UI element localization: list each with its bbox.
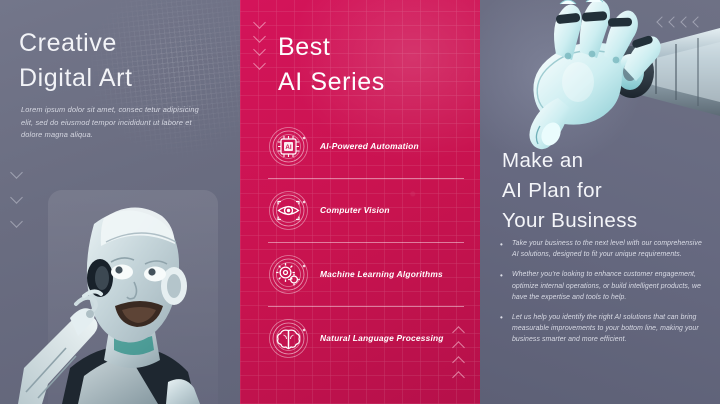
right-title-line-3: Your Business: [502, 206, 712, 236]
left-panel-title: Creative Digital Art: [19, 26, 234, 95]
robot-figure-thinking: [18, 196, 233, 404]
feature-item-natural-language-processing[interactable]: Natural Language Processing: [268, 306, 464, 370]
left-panel: Creative Digital Art Lorem ipsum dolor s…: [0, 0, 240, 404]
feature-label: Computer Vision: [320, 204, 390, 217]
chevron-up-stack-icon: [452, 328, 468, 382]
feature-label: AI-Powered Automation: [320, 140, 419, 153]
bullet-marker: •: [500, 269, 506, 303]
bullet-text: Whether you're looking to enhance custom…: [512, 269, 706, 303]
list-item: • Whether you're looking to enhance cust…: [500, 269, 706, 303]
list-item: • Let us help you identify the right AI …: [500, 312, 706, 346]
right-title-line-2: AI Plan for: [502, 176, 712, 206]
feature-label: Natural Language Processing: [320, 332, 444, 345]
left-title-line-2: Digital Art: [19, 61, 234, 96]
bullet-text: Take your business to the next level wit…: [512, 238, 706, 260]
computer-vision-icon: [268, 190, 309, 231]
robotic-hand-icon: [408, 0, 720, 154]
bullet-text: Let us help you identify the right AI so…: [512, 312, 706, 346]
chevron-down-stack-icon: [253, 18, 269, 68]
ai-chip-icon: AI: [268, 126, 309, 167]
right-panel-title: Make an AI Plan for Your Business: [502, 146, 712, 236]
feature-item-computer-vision[interactable]: Computer Vision: [268, 178, 464, 242]
brain-icon: [268, 318, 309, 359]
bullet-marker: •: [500, 312, 506, 346]
feature-label: Machine Learning Algorithms: [320, 268, 443, 281]
benefits-bullet-list: • Take your business to the next level w…: [500, 238, 706, 355]
feature-item-machine-learning-algorithms[interactable]: Machine Learning Algorithms: [268, 242, 464, 306]
presentation-slide: Creative Digital Art Lorem ipsum dolor s…: [0, 0, 720, 404]
left-panel-body-text: Lorem ipsum dolor sit amet, consec tetur…: [21, 104, 209, 142]
gear-cog-icon: [268, 254, 309, 295]
left-title-line-1: Creative: [19, 26, 234, 61]
list-item: • Take your business to the next level w…: [500, 238, 706, 260]
bullet-marker: •: [500, 238, 506, 260]
svg-text:AI: AI: [285, 144, 291, 151]
